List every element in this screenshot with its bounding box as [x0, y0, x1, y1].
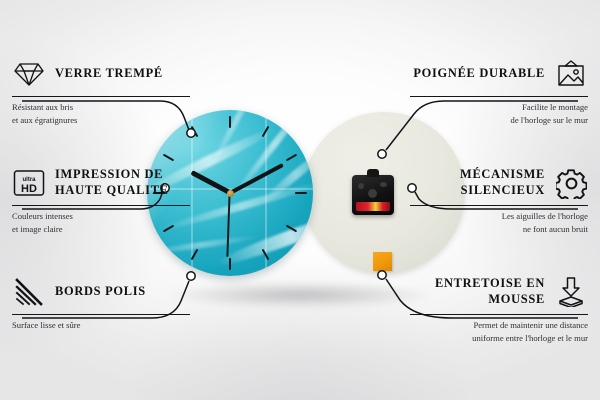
svg-text:HD: HD [21, 183, 37, 195]
feather-streak [240, 247, 313, 276]
feature-divider [410, 205, 588, 206]
feature-entretoise-en-mousse: ENTRETOISE EN MOUSSE Permet de maintenir… [410, 274, 588, 344]
feature-title: BORDS POLIS [55, 284, 146, 300]
feature-divider [12, 314, 190, 315]
feature-poignee-durable: POIGNÉE DURABLE Facilite le montage de l… [410, 56, 588, 126]
feather-streak [213, 203, 313, 271]
clock-tick [295, 192, 307, 194]
clock-tick [229, 258, 231, 270]
clock-tick [262, 126, 270, 137]
feature-description: Résistant aux bris et aux égratignures [12, 101, 190, 126]
feature-title: ENTRETOISE EN MOUSSE [410, 276, 545, 308]
mechanism-battery [356, 202, 390, 211]
clock-tick [229, 116, 231, 128]
clock-tick [191, 249, 199, 260]
glass-seam [265, 110, 267, 276]
mechanism-detail-dot [358, 183, 364, 189]
feature-description: Surface lisse et sûre [12, 319, 190, 331]
feather-streak [147, 234, 261, 257]
mechanism-detail-dot [368, 189, 377, 198]
feature-description: Couleurs intenses et image claire [12, 210, 190, 235]
feature-divider [410, 314, 588, 315]
mechanism-detail-dot [380, 182, 387, 187]
clock-tick [286, 154, 297, 162]
clock-tick [286, 225, 297, 233]
clock-tick [163, 154, 174, 162]
feather-streak [229, 110, 313, 201]
mechanism-hanger-tab [367, 169, 379, 177]
feature-title: VERRE TREMPÉ [55, 66, 163, 82]
feature-title: POIGNÉE DURABLE [413, 66, 545, 82]
callout-dot-entretoise [378, 271, 386, 279]
clock-minute-hand [229, 163, 284, 195]
infographic-canvas: VERRE TREMPÉ Résistant aux bris et aux é… [0, 0, 600, 400]
feature-divider [12, 205, 190, 206]
feature-verre-trempe: VERRE TREMPÉ Résistant aux bris et aux é… [12, 56, 190, 126]
clock-mechanism [352, 175, 394, 215]
feature-bords-polis: BORDS POLIS Surface lisse et sûre [12, 274, 190, 332]
clock-tick [262, 249, 270, 260]
feature-impression-haute-qualite: ultra HD IMPRESSION DE HAUTE QUALITÉ Cou… [12, 165, 190, 235]
clock-second-hand [227, 193, 231, 257]
feature-title: MÉCANISME SILENCIEUX [410, 167, 545, 199]
callout-dot-verre-trempe [187, 129, 195, 137]
foam-spacer-icon [554, 275, 588, 309]
diamond-icon [12, 57, 46, 91]
feather-streak [259, 142, 313, 207]
foam-spacer-pad [373, 252, 392, 271]
callout-dot-poignee [378, 150, 386, 158]
feature-title: IMPRESSION DE HAUTE QUALITÉ [55, 167, 190, 199]
feature-description: Les aiguilles de l'horloge ne font aucun… [410, 210, 588, 235]
product-shadow [170, 282, 430, 308]
feature-description: Permet de maintenir une distance uniform… [410, 319, 588, 344]
feather-streak [206, 110, 268, 173]
glass-seam [191, 110, 193, 276]
ultra-hd-icon: ultra HD [12, 166, 46, 200]
feature-description: Facilite le montage de l'horloge sur le … [410, 101, 588, 126]
clock-center-pin [227, 190, 234, 197]
feature-divider [410, 96, 588, 97]
feature-divider [12, 96, 190, 97]
wall-hanger-icon [554, 57, 588, 91]
polished-edges-icon [12, 275, 46, 309]
clock-hour-hand [190, 170, 231, 195]
feature-mecanisme-silencieux: MÉCANISME SILENCIEUX Les aiguilles de l'… [410, 165, 588, 235]
gear-icon [554, 166, 588, 200]
clock-tick [191, 126, 199, 137]
